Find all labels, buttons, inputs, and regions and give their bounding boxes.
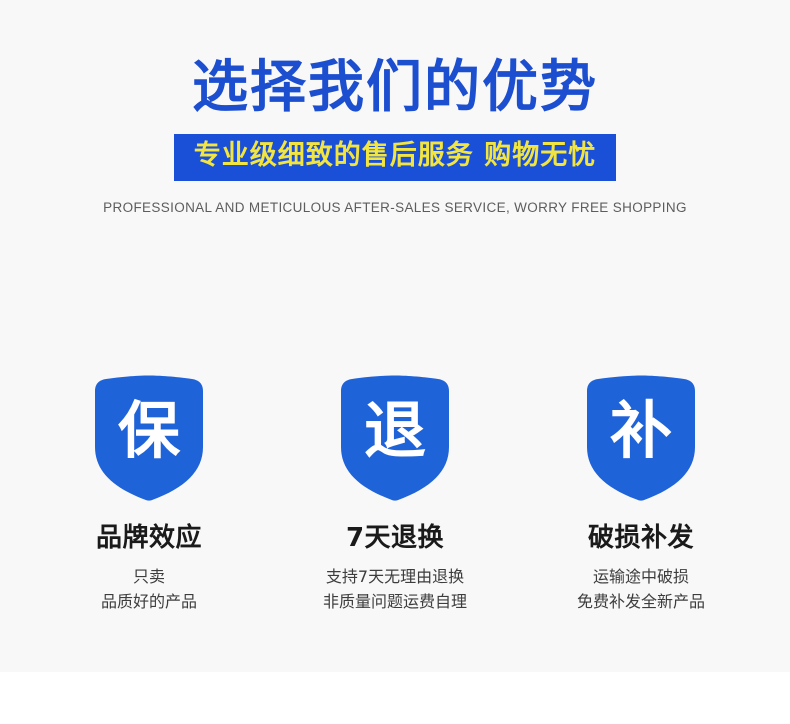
subtitle-band: 专业级细致的售后服务 购物无忧 xyxy=(174,134,616,180)
shield-holder: 保 xyxy=(26,375,272,503)
shield-reship-icon: 补 xyxy=(585,375,697,501)
feature-title: 破损补发 xyxy=(518,524,764,554)
shield-return-icon: 退 xyxy=(339,375,451,501)
feature-columns: 保 品牌效应 只卖 品质好的产品 退 7天退换 支持7天无理由退换 xyxy=(0,375,790,614)
subtitle-band-wrapper: 专业级细致的售后服务 购物无忧 xyxy=(0,134,790,180)
feature-item-reship: 补 破损补发 运输途中破损 免费补发全新产品 xyxy=(518,375,764,614)
feature-line: 支持7天无理由退换 xyxy=(272,565,518,590)
feature-description: 只卖 品质好的产品 xyxy=(26,565,272,615)
shield-guarantee-icon: 保 xyxy=(93,375,205,501)
page-title: 选择我们的优势 xyxy=(0,0,790,118)
feature-item-brand: 保 品牌效应 只卖 品质好的产品 xyxy=(26,375,272,614)
feature-line: 运输途中破损 xyxy=(518,565,764,590)
banner-header: 选择我们的优势 专业级细致的售后服务 购物无忧 PROFESSIONAL AND… xyxy=(0,0,790,215)
english-subtitle: PROFESSIONAL AND METICULOUS AFTER-SALES … xyxy=(0,200,790,215)
feature-item-return: 退 7天退换 支持7天无理由退换 非质量问题运费自理 xyxy=(272,375,518,614)
feature-title: 品牌效应 xyxy=(26,524,272,554)
feature-description: 支持7天无理由退换 非质量问题运费自理 xyxy=(272,565,518,615)
feature-line: 免费补发全新产品 xyxy=(518,590,764,615)
feature-line: 非质量问题运费自理 xyxy=(272,590,518,615)
feature-line: 品质好的产品 xyxy=(26,590,272,615)
feature-line: 只卖 xyxy=(26,565,272,590)
feature-title: 7天退换 xyxy=(272,524,518,554)
feature-description: 运输途中破损 免费补发全新产品 xyxy=(518,565,764,615)
shield-holder: 退 xyxy=(272,375,518,503)
promo-banner: 选择我们的优势 专业级细致的售后服务 购物无忧 PROFESSIONAL AND… xyxy=(0,0,790,724)
shield-holder: 补 xyxy=(518,375,764,503)
